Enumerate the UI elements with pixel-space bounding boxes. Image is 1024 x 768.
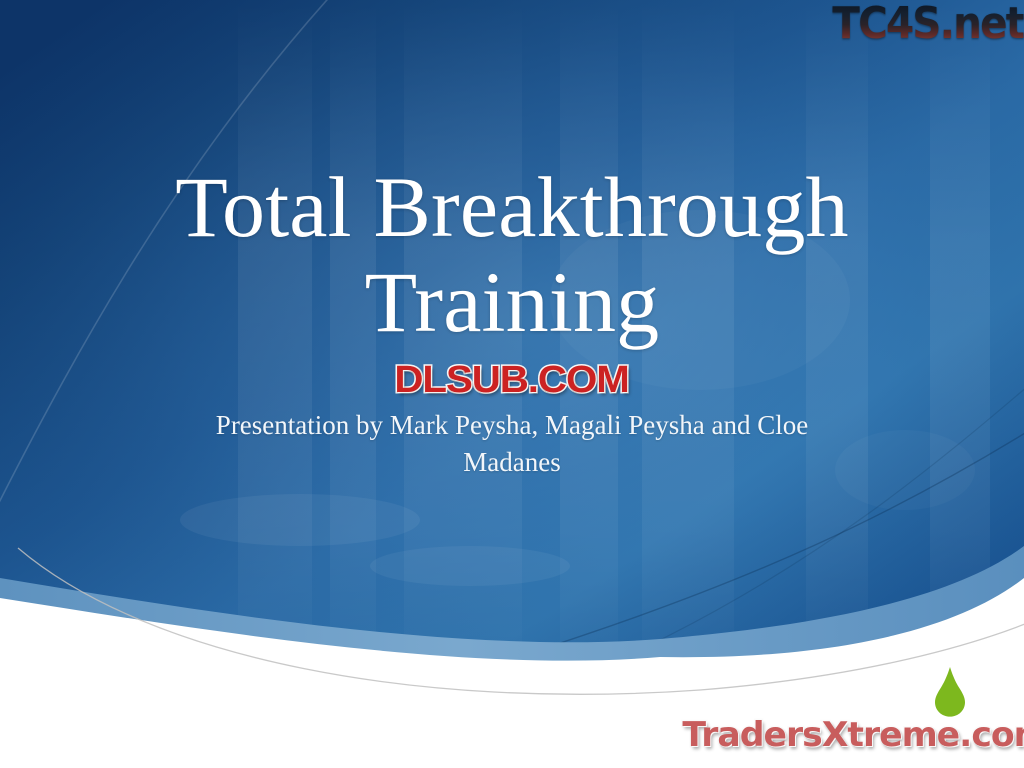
title-slide: Total Breakthrough Training Presentation… bbox=[0, 0, 1024, 768]
presentation-credits: Presentation by Mark Peysha, Magali Peys… bbox=[0, 407, 1024, 482]
green-droplet-icon bbox=[930, 666, 970, 718]
title-block: Total Breakthrough Training bbox=[0, 160, 1024, 349]
slide-background bbox=[0, 0, 1024, 768]
page-title: Total Breakthrough Training bbox=[0, 160, 1024, 349]
subtitle-block: Presentation by Mark Peysha, Magali Peys… bbox=[0, 407, 1024, 482]
